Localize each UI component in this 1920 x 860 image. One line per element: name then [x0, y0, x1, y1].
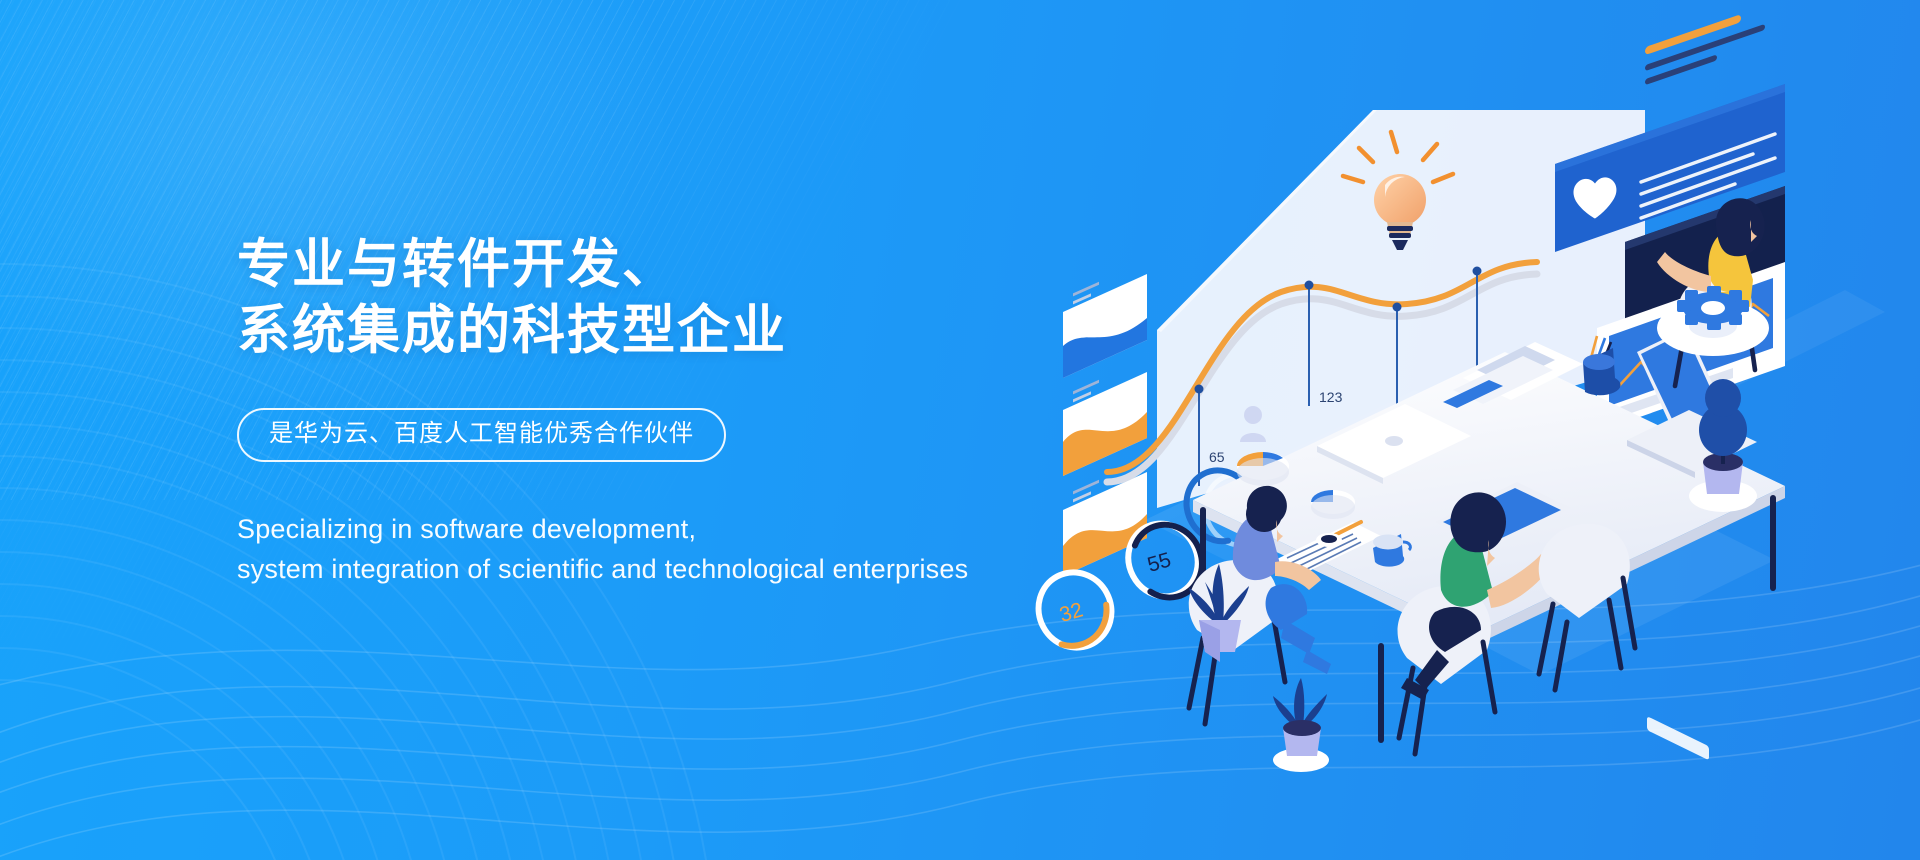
pie-chart-small-icon [1311, 490, 1355, 519]
chart-label-123: 123 [1319, 389, 1343, 405]
subtitle: Specializing in software development, sy… [237, 509, 1137, 589]
hero-banner: 专业与转件开发、 系统集成的科技型企业 是华为云、百度人工智能优秀合作伙伴 Sp… [0, 0, 1920, 860]
gauge-value-32: 32 [1057, 598, 1086, 627]
hero-copy: 专业与转件开发、 系统集成的科技型企业 是华为云、百度人工智能优秀合作伙伴 Sp… [237, 232, 1137, 589]
saucer-icon [1316, 533, 1342, 547]
headline-line-2: 系统集成的科技型企业 [237, 298, 1137, 364]
chart-label-65: 65 [1209, 449, 1225, 465]
subtitle-line-2: system integration of scientific and tec… [237, 549, 1137, 589]
pie-chart-icon [1237, 452, 1289, 486]
partner-badge[interactable]: 是华为云、百度人工智能优秀合作伙伴 [237, 408, 726, 462]
headline-line-1: 专业与转件开发、 [237, 232, 1137, 298]
isometric-illustration: 65 123 97 81 [1085, 90, 1885, 750]
illustration-svg: 65 123 97 81 [1085, 90, 1885, 750]
subtitle-line-1: Specializing in software development, [237, 509, 1137, 549]
plant-icon-2 [1273, 678, 1329, 772]
gauge-value-55: 55 [1145, 548, 1174, 577]
